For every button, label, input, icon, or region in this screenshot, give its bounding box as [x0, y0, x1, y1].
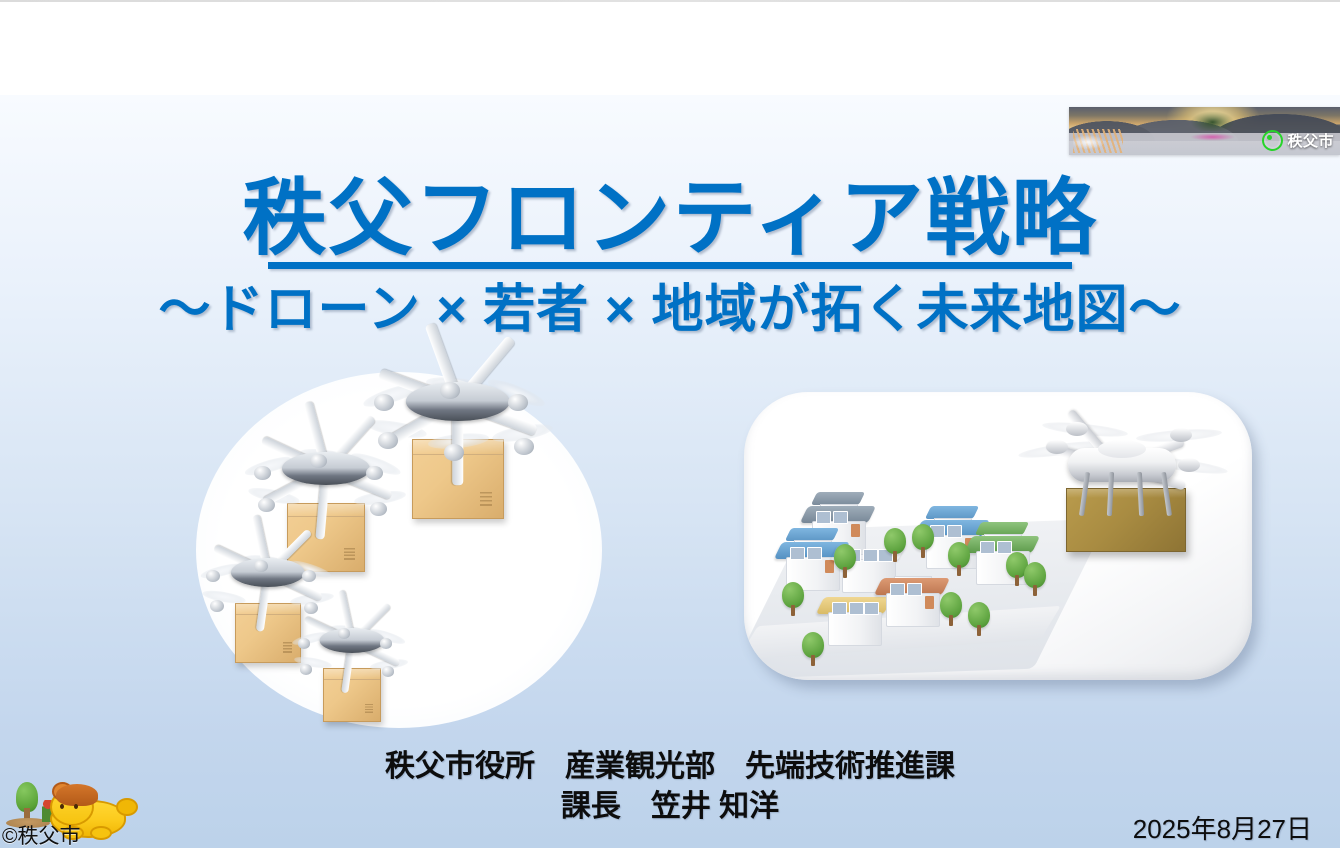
banner-fireworks	[1073, 129, 1123, 153]
circle-logo-icon	[1262, 130, 1283, 151]
banner-tree	[1191, 109, 1234, 131]
copyright-label: ©秩父市	[2, 820, 80, 848]
tree-icon	[912, 524, 934, 558]
presentation-date: 2025年8月27日	[1133, 809, 1312, 846]
title-underline	[268, 262, 1072, 269]
slide-subtitle: 〜ドローン × 若者 × 地域が拓く未来地図〜	[0, 282, 1340, 339]
house-icon	[884, 578, 940, 626]
village-delivery-illustration	[744, 392, 1252, 680]
banner-flower-field	[1177, 131, 1247, 143]
tree-icon	[834, 544, 856, 578]
tree-icon	[1024, 562, 1046, 596]
banner-logo-label: 秩父市	[1287, 130, 1334, 151]
tree-icon	[802, 632, 824, 666]
drone-swarm-illustration	[196, 372, 602, 728]
presentation-slide: 秩父市 秩父フロンティア戦略 〜ドローン × 若者 × 地域が拓く未来地図〜	[0, 0, 1340, 848]
large-drone-icon	[1012, 414, 1232, 564]
tree-icon	[782, 582, 804, 616]
top-white-band	[0, 0, 1340, 95]
chichibu-city-banner: 秩父市	[1069, 107, 1340, 155]
tree-icon	[940, 592, 962, 626]
banner-logo-group: 秩父市	[1262, 130, 1334, 151]
drone-delivery-icon	[296, 628, 408, 724]
tree-icon	[884, 528, 906, 562]
house-icon	[826, 597, 882, 645]
tree-icon	[968, 602, 990, 636]
top-hairline-divider	[0, 0, 1340, 2]
slide-title: 秩父フロンティア戦略	[0, 176, 1340, 260]
tree-icon	[948, 542, 970, 576]
